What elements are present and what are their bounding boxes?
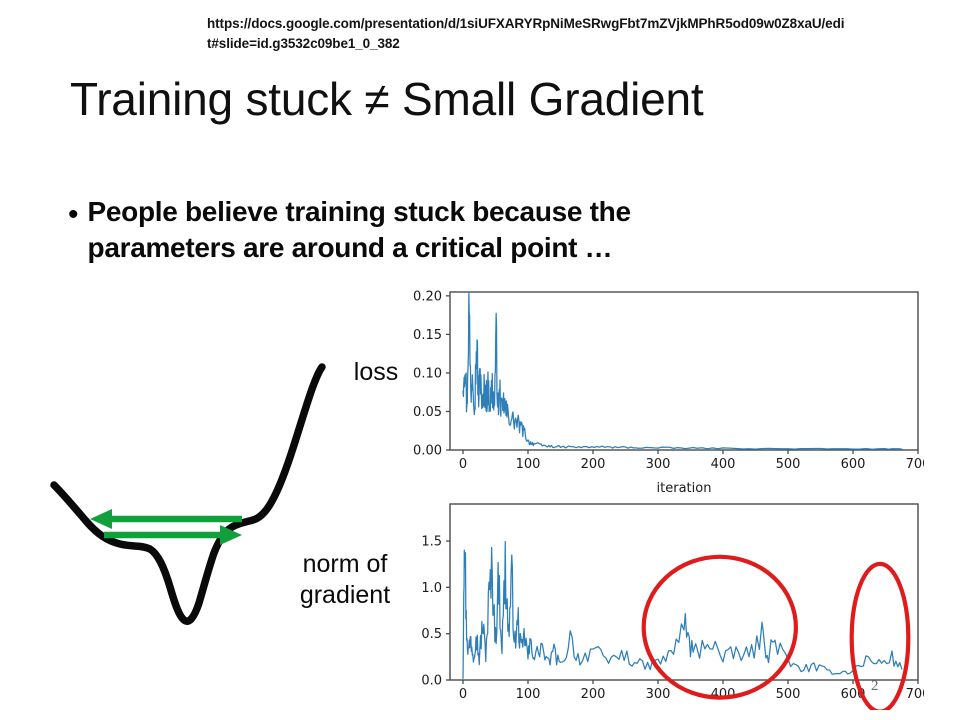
loss-chart: 01002003004005006007000.000.050.100.150.… — [404, 286, 924, 494]
y-tick-label: 0.05 — [413, 405, 442, 420]
x-tick-label: 400 — [711, 687, 736, 702]
x-axis-title: iteration — [657, 481, 712, 494]
y-tick-label: 1.5 — [421, 535, 442, 550]
x-tick-label: 0 — [459, 687, 467, 702]
page-number-label: 2 — [871, 678, 879, 695]
y-tick-label: 0.00 — [413, 444, 442, 459]
gradient-norm-chart: 01002003004005006007000.00.51.01.5 — [404, 498, 924, 710]
red-ellipse-large — [644, 557, 796, 698]
gradient-norm-chart-svg: 01002003004005006007000.00.51.01.5 — [404, 498, 924, 710]
x-tick-label: 300 — [646, 687, 671, 702]
y-tick-label: 0.15 — [413, 328, 442, 343]
leftward-oscillation-arrow — [90, 509, 242, 529]
valley-curve-path — [54, 367, 322, 621]
bullet-marker-icon: • — [68, 200, 79, 230]
gradient-caption-line-1: norm of — [286, 549, 404, 580]
x-tick-label: 300 — [646, 457, 671, 472]
y-tick-label: 0.10 — [413, 366, 442, 381]
page-title: Training stuck ≠ Small Gradient — [70, 74, 703, 126]
x-tick-label: 400 — [711, 457, 736, 472]
y-tick-label: 0.5 — [421, 627, 442, 642]
y-tick-label: 0.20 — [413, 289, 442, 304]
data-line-0 — [463, 292, 902, 449]
y-tick-label: 1.0 — [421, 581, 442, 596]
bullet-list: • People believe training stuck because … — [68, 194, 768, 266]
x-tick-label: 200 — [581, 687, 606, 702]
x-tick-label: 0 — [459, 457, 467, 472]
y-tick-label: 0.0 — [421, 674, 442, 689]
x-tick-label: 500 — [776, 457, 801, 472]
x-tick-label: 600 — [841, 457, 866, 472]
gradient-caption-line-2: gradient — [286, 580, 404, 611]
red-ellipse-small — [852, 564, 909, 710]
x-tick-label: 700 — [906, 457, 924, 472]
x-tick-label: 500 — [776, 687, 801, 702]
x-tick-label: 200 — [581, 457, 606, 472]
x-tick-label: 100 — [516, 687, 541, 702]
x-tick-label: 700 — [906, 687, 924, 702]
gradient-norm-caption-label: norm of gradient — [286, 549, 404, 610]
loss-chart-svg: 01002003004005006007000.000.050.100.150.… — [404, 286, 924, 494]
plot-frame — [450, 504, 918, 680]
source-url-text: https://docs.google.com/presentation/d/1… — [207, 14, 847, 53]
bullet-item-label: People believe training stuck because th… — [88, 194, 748, 266]
x-tick-label: 100 — [516, 457, 541, 472]
loss-caption-label: loss — [344, 357, 408, 388]
data-line-0 — [463, 541, 902, 678]
list-item: • People believe training stuck because … — [68, 194, 768, 266]
